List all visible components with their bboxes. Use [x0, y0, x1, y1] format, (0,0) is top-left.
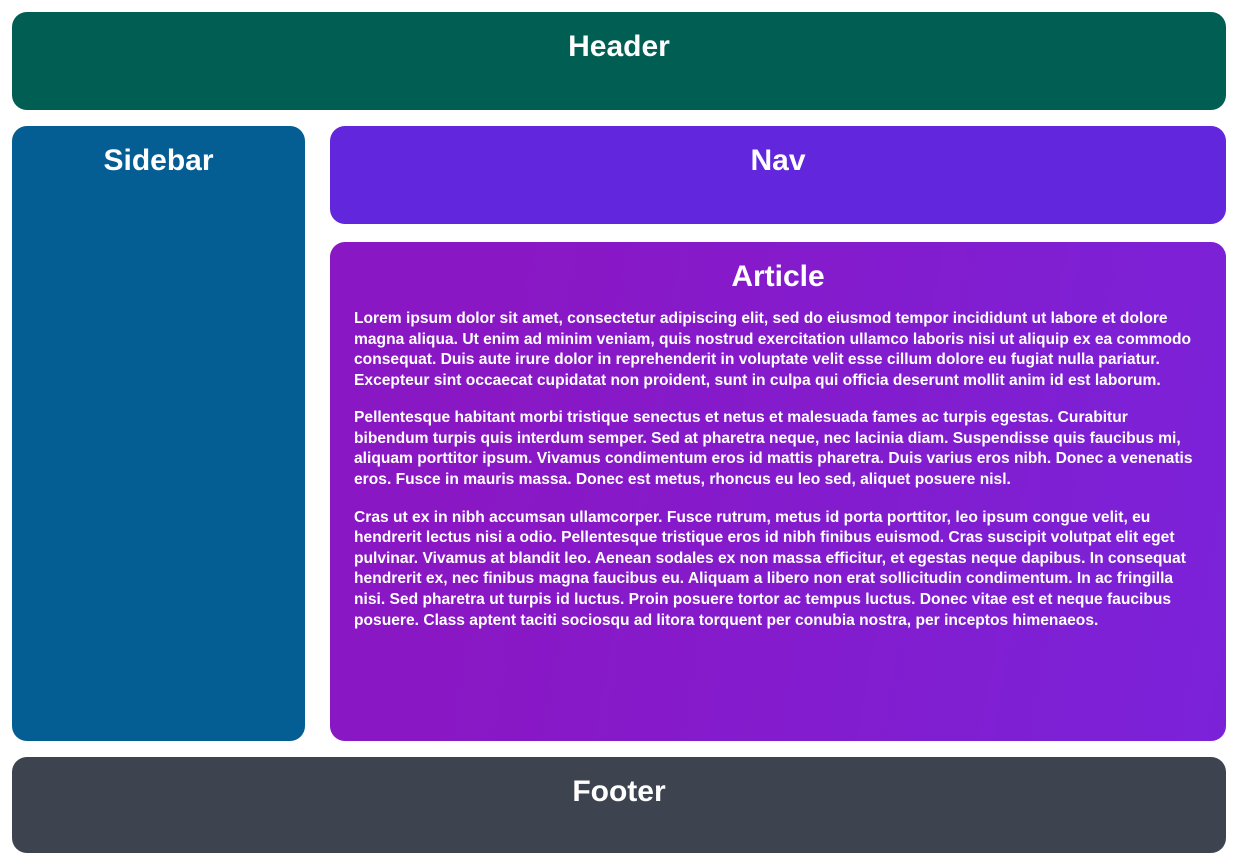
article-body: Lorem ipsum dolor sit amet, consectetur … [354, 309, 1202, 631]
header-title: Header [32, 29, 1206, 65]
footer-region: Footer [12, 757, 1226, 853]
article-paragraph: Cras ut ex in nibh accumsan ullamcorper.… [354, 508, 1202, 631]
footer-title: Footer [32, 774, 1206, 810]
middle-row: Sidebar Nav Article Lorem ipsum dolor si… [12, 126, 1226, 741]
header-region: Header [12, 12, 1226, 110]
article-paragraph: Pellentesque habitant morbi tristique se… [354, 408, 1202, 490]
article-title: Article [354, 259, 1202, 295]
page-layout: Header Sidebar Nav Article Lorem ipsum d… [0, 0, 1238, 867]
article-paragraph: Lorem ipsum dolor sit amet, consectetur … [354, 309, 1202, 391]
sidebar-title: Sidebar [26, 143, 291, 179]
sidebar-region: Sidebar [12, 126, 305, 741]
article-region: Article Lorem ipsum dolor sit amet, cons… [330, 242, 1226, 741]
content-column: Nav Article Lorem ipsum dolor sit amet, … [330, 126, 1226, 741]
nav-title: Nav [350, 143, 1206, 179]
nav-region[interactable]: Nav [330, 126, 1226, 224]
